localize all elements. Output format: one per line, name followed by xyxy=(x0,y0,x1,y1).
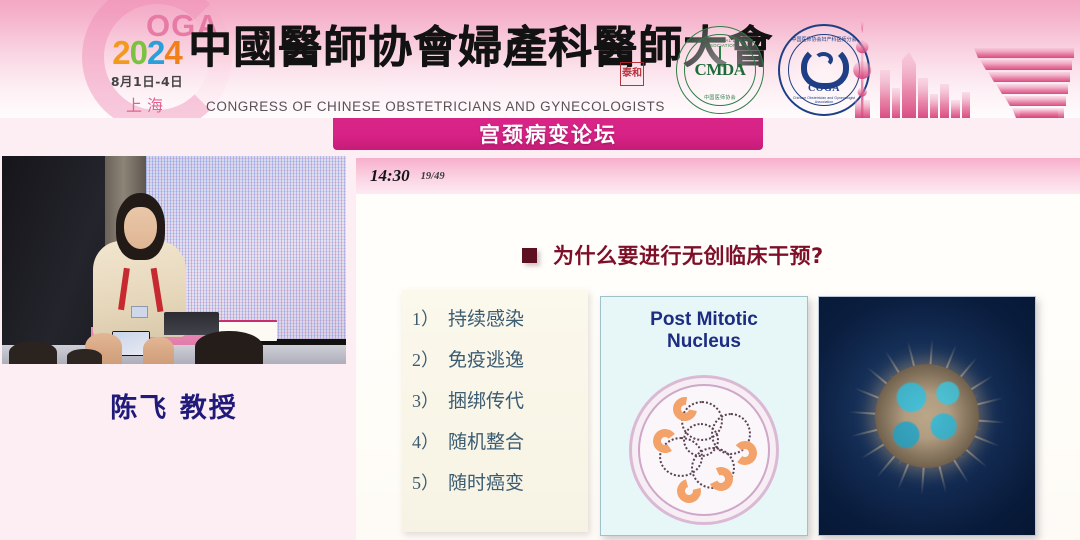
cancer-cell-micrograph xyxy=(818,296,1036,536)
list-item: 5） 随时癌变 xyxy=(412,468,592,495)
slide-content: 为什么要进行无创临床干预? 1） 持续感染 2） 免疫逃逸 3） 捆绑传代 4） xyxy=(356,194,1080,540)
coga-arc-cn-text: 中国医师协会妇产科医师分会 xyxy=(789,36,859,43)
speaker-panel: 陈飞 教授 xyxy=(0,150,348,540)
presentation-stream-view: OGA 2024 8月1日-4日 上海 中國醫師协會婦產科醫師大會 泰和 CON… xyxy=(0,0,1080,540)
list-item-label: 免疫逃逸 xyxy=(448,345,524,372)
slide-title-row: 为什么要进行无创临床干预? xyxy=(522,240,824,270)
slide-title: 为什么要进行无创临床干预? xyxy=(553,240,824,270)
audience-head-2 xyxy=(195,331,264,364)
list-item: 2） 免疫逃逸 xyxy=(412,345,592,372)
coga-abbr: COGA xyxy=(789,83,859,94)
list-item: 3） 捆绑传代 xyxy=(412,386,592,413)
speaker-badge xyxy=(131,306,148,318)
event-city: 上海 xyxy=(88,92,206,116)
list-item-label: 随时癌变 xyxy=(448,468,524,495)
slide-counter: 19/49 xyxy=(421,171,445,182)
list-item-number: 3） xyxy=(412,387,439,413)
list-item-label: 捆绑传代 xyxy=(448,386,524,413)
slide-status-bar: 14:30 19/49 xyxy=(356,158,1080,194)
red-seal-stamp-icon: 泰和 xyxy=(620,62,644,86)
baby-figure-icon xyxy=(814,52,833,67)
conference-header: OGA 2024 8月1日-4日 上海 中國醫師协會婦產科醫師大會 泰和 CON… xyxy=(0,0,1080,118)
list-item: 4） 随机整合 xyxy=(412,427,592,454)
forum-title-label: 宫颈病变论坛 xyxy=(479,119,617,149)
list-item-number: 4） xyxy=(412,428,439,454)
micrograph-vignette xyxy=(819,297,1035,535)
diagram-title-line-1: Post Mitotic xyxy=(601,309,807,331)
audience-hand-right xyxy=(143,337,174,364)
year-digit-2: 0 xyxy=(130,34,147,71)
speaker-video-feed[interactable] xyxy=(2,156,346,364)
list-item-number: 5） xyxy=(412,469,439,495)
list-item: 1） 持续感染 xyxy=(412,304,592,331)
list-item-number: 1） xyxy=(412,305,439,331)
diagram-title: Post Mitotic Nucleus xyxy=(601,309,807,354)
forum-title-banner: 宫颈病变论坛 xyxy=(333,118,763,150)
cmda-arc-bottom-text: 中国医师协会 xyxy=(685,94,755,101)
skyline-svg xyxy=(850,0,1080,118)
cmda-logo: CHINESE MEDICAL DOCTOR ASSOCIATION CMDA … xyxy=(676,26,764,114)
year-digit-4: 4 xyxy=(164,34,181,71)
year-digit-1: 2 xyxy=(112,34,129,71)
conference-title-en: CONGRESS OF CHINESE OBSTETRICIANS AND GY… xyxy=(206,99,665,114)
list-item-number: 2） xyxy=(412,346,439,372)
speaker-face xyxy=(124,207,156,249)
shanghai-skyline-decoration xyxy=(850,0,1080,118)
year-digit-3: 2 xyxy=(147,34,164,71)
cmda-logo-inner-ring: CHINESE MEDICAL DOCTOR ASSOCIATION CMDA … xyxy=(684,34,756,106)
nucleus-illustration xyxy=(629,375,779,525)
list-item-label: 持续感染 xyxy=(448,304,524,331)
slide-numbered-list: 1） 持续感染 2） 免疫逃逸 3） 捆绑传代 4） 随机整合 5） 随时癌 xyxy=(412,304,592,509)
speaker-name-label: 陈飞 教授 xyxy=(0,386,348,425)
laptop-on-podium xyxy=(164,312,219,335)
list-item-label: 随机整合 xyxy=(448,427,524,454)
session-clock: 14:30 xyxy=(370,166,410,186)
audience-head-1 xyxy=(9,341,57,364)
cmda-abbr: CMDA xyxy=(695,60,746,80)
event-dates: 8月1日-4日 xyxy=(88,71,206,90)
dna-loop xyxy=(683,423,719,457)
caduceus-icon xyxy=(719,46,721,59)
coga-arc-en-text: Chinese Obstetrician and Gynecologist As… xyxy=(789,96,859,104)
post-mitotic-nucleus-diagram: Post Mitotic Nucleus xyxy=(600,296,808,536)
square-bullet-icon xyxy=(522,248,537,263)
audience-head-3 xyxy=(67,349,101,364)
diagram-title-line-2: Nucleus xyxy=(601,331,807,353)
slide-panel: 14:30 19/49 为什么要进行无创临床干预? 1） 持续感染 2） 免疫逃… xyxy=(356,158,1080,540)
